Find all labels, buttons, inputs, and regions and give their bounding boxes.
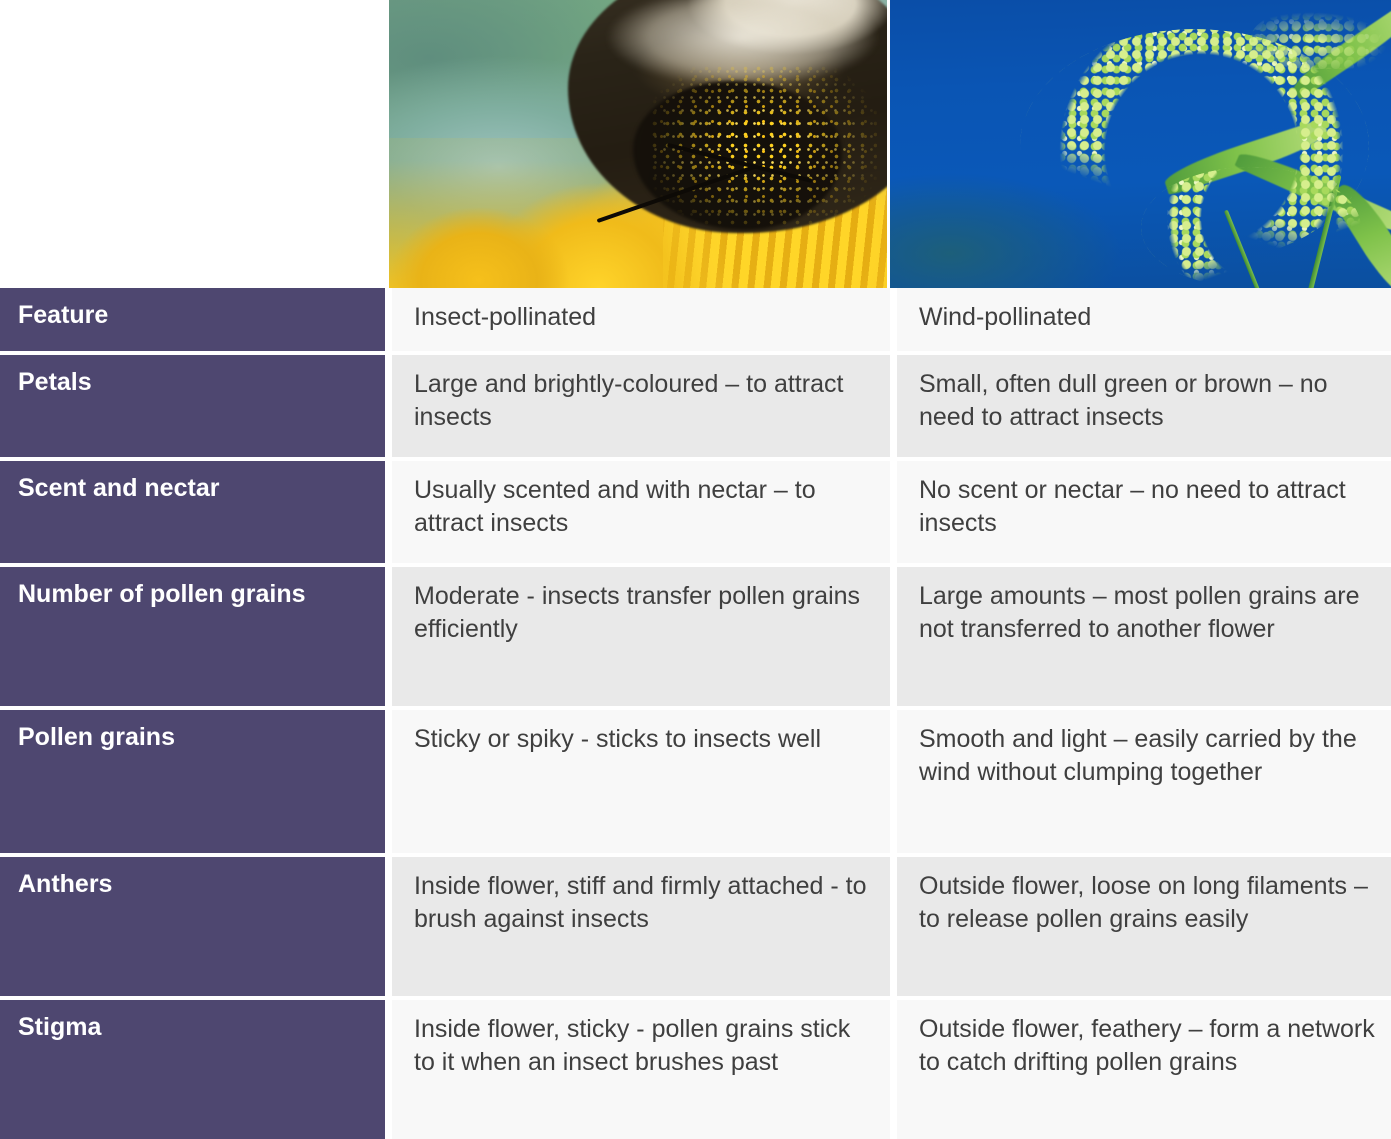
column-gap — [890, 461, 897, 563]
comparison-table: Feature Insect-pollinated Wind-pollinate… — [0, 288, 1391, 1139]
flower-spike — [1251, 6, 1391, 69]
cell-number-of-pollen-grains-wind: Large amounts – most pollen grains are n… — [897, 567, 1391, 706]
table-row: Stigma Inside flower, sticky - pollen gr… — [0, 1000, 1391, 1139]
column-gap — [385, 567, 392, 706]
pollination-comparison-figure: Feature Insect-pollinated Wind-pollinate… — [0, 0, 1391, 1118]
column-gap — [385, 288, 392, 351]
bee-on-flower-illustration — [389, 0, 887, 288]
column-gap — [890, 857, 897, 996]
cell-pollen-grains-insect: Sticky or spiky - sticks to insects well — [392, 710, 890, 853]
row-label-scent-and-nectar: Scent and nectar — [0, 461, 385, 563]
wind-pollinated-photo — [890, 0, 1391, 288]
table-row: Scent and nectar Usually scented and wit… — [0, 461, 1391, 563]
cell-number-of-pollen-grains-insect: Moderate - insects transfer pollen grain… — [392, 567, 890, 706]
image-band — [0, 0, 1391, 288]
column-gap — [385, 710, 392, 853]
cell-scent-and-nectar-wind: No scent or nectar – no need to attract … — [897, 461, 1391, 563]
column-gap — [890, 567, 897, 706]
table-row: Petals Large and brightly-coloured – to … — [0, 355, 1391, 457]
column-header-wind-pollinated: Wind-pollinated — [897, 288, 1391, 351]
column-gap — [890, 1000, 897, 1139]
column-header-feature: Feature — [0, 288, 385, 351]
table-row: Pollen grains Sticky or spiky - sticks t… — [0, 710, 1391, 853]
cell-petals-wind: Small, often dull green or brown – no ne… — [897, 355, 1391, 457]
column-gap — [385, 1000, 392, 1139]
column-gap — [890, 710, 897, 853]
row-label-stigma: Stigma — [0, 1000, 385, 1139]
column-gap — [385, 857, 392, 996]
table-row: Number of pollen grains Moderate - insec… — [0, 567, 1391, 706]
cell-scent-and-nectar-insect: Usually scented and with nectar – to att… — [392, 461, 890, 563]
insect-pollinated-photo — [389, 0, 887, 288]
column-gap — [385, 355, 392, 457]
column-gap — [385, 461, 392, 563]
row-label-number-of-pollen-grains: Number of pollen grains — [0, 567, 385, 706]
table-row: Anthers Inside flower, stiff and firmly … — [0, 857, 1391, 996]
flower-spike — [1141, 167, 1361, 288]
cell-pollen-grains-wind: Smooth and light – easily carried by the… — [897, 710, 1391, 853]
cell-anthers-insect: Inside flower, stiff and firmly attached… — [392, 857, 890, 996]
table-header-row: Feature Insect-pollinated Wind-pollinate… — [0, 288, 1391, 351]
cell-petals-insect: Large and brightly-coloured – to attract… — [392, 355, 890, 457]
column-header-insect-pollinated: Insect-pollinated — [392, 288, 890, 351]
row-label-petals: Petals — [0, 355, 385, 457]
row-label-pollen-grains: Pollen grains — [0, 710, 385, 853]
wind-flower-illustration — [890, 0, 1391, 288]
cell-anthers-wind: Outside flower, loose on long filaments … — [897, 857, 1391, 996]
pollen-grains-on-bee — [648, 63, 877, 224]
column-gap — [890, 355, 897, 457]
column-gap — [890, 288, 897, 351]
cell-stigma-wind: Outside flower, feathery – form a networ… — [897, 1000, 1391, 1139]
row-label-anthers: Anthers — [0, 857, 385, 996]
cell-stigma-insect: Inside flower, sticky - pollen grains st… — [392, 1000, 890, 1139]
